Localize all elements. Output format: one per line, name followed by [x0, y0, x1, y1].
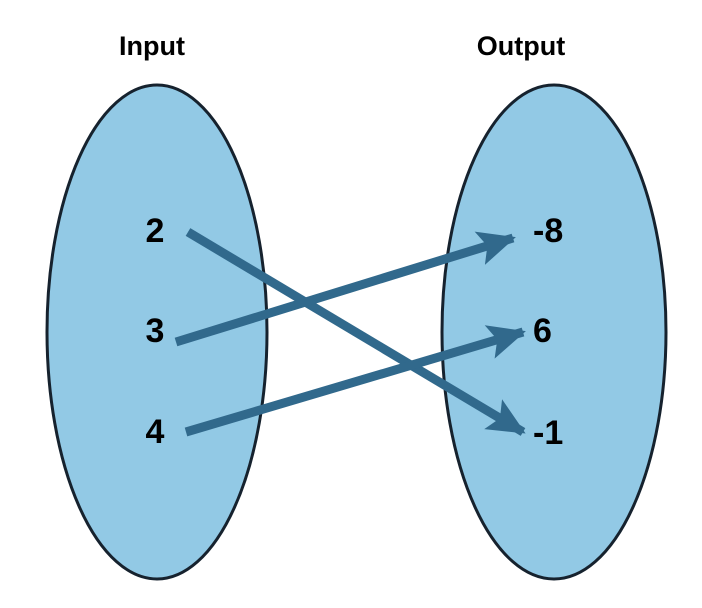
output-element-minus1: -1 [533, 414, 563, 452]
input-element-4: 4 [146, 413, 165, 451]
diagram-svg: Input Output 2 3 4 -8 6 -1 [0, 0, 702, 608]
input-element-2: 2 [146, 212, 165, 250]
output-set-label: Output [477, 31, 565, 61]
input-element-3: 3 [146, 312, 165, 350]
output-element-6: 6 [533, 312, 552, 350]
output-set-ellipse [442, 85, 666, 579]
output-element-minus8: -8 [533, 212, 563, 250]
input-set-label: Input [119, 31, 185, 61]
mapping-diagram-canvas: Input Output 2 3 4 -8 6 -1 [0, 0, 702, 608]
